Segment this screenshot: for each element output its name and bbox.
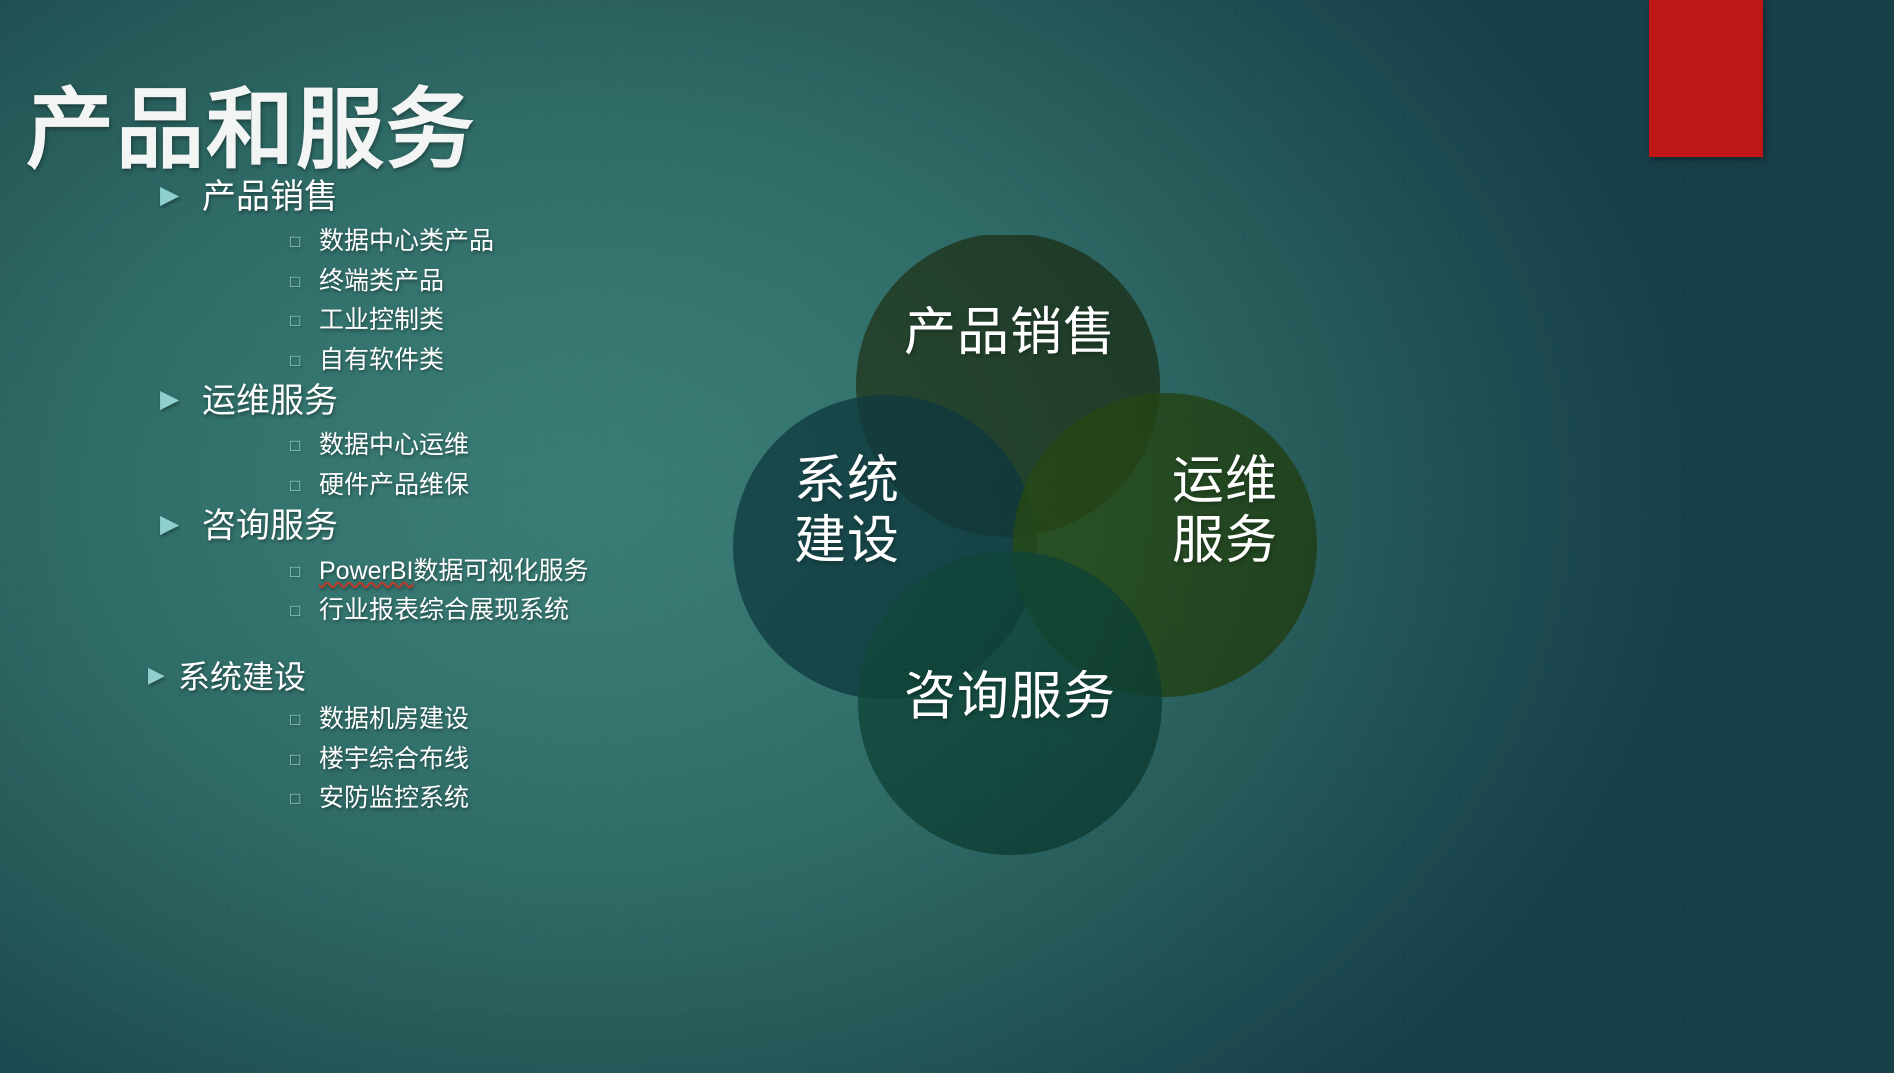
list-item-label: 数据机房建设 bbox=[319, 700, 469, 740]
list-item-label: 安防监控系统 bbox=[319, 779, 469, 819]
list-item-label: 工业控制类 bbox=[319, 301, 444, 341]
list-item-label: 楼宇综合布线 bbox=[319, 740, 469, 780]
triangle-bullet-icon: ▶ bbox=[160, 380, 202, 421]
list-item-label: 自有软件类 bbox=[319, 341, 444, 381]
square-bullet-icon: □ bbox=[290, 700, 319, 739]
bullet-label: 系统建设 bbox=[178, 657, 306, 699]
square-bullet-icon: □ bbox=[290, 222, 319, 261]
slide-canvas: 产品和服务 ▶ 产品销售 □ 数据中心类产品 □ 终端类产品 □ 工业控制类 □… bbox=[0, 0, 1894, 1073]
triangle-bullet-icon: ▶ bbox=[160, 505, 202, 546]
square-bullet-icon: □ bbox=[290, 341, 319, 380]
bullet-label: 产品销售 bbox=[202, 176, 338, 220]
page-title: 产品和服务 bbox=[26, 81, 476, 182]
list-item-label: PowerBI数据可视化服务 bbox=[319, 552, 589, 592]
list-item-label: 行业报表综合展现系统 bbox=[319, 591, 569, 631]
triangle-bullet-icon: ▶ bbox=[148, 657, 178, 693]
list-item-label: 终端类产品 bbox=[319, 262, 444, 302]
list-item-label-rest: 数据可视化服务 bbox=[413, 558, 588, 585]
square-bullet-icon: □ bbox=[290, 552, 319, 591]
square-bullet-icon: □ bbox=[290, 426, 319, 465]
list-item-label: 数据中心运维 bbox=[319, 426, 469, 466]
bullet-label: 咨询服务 bbox=[202, 505, 338, 549]
corner-accent-bar bbox=[1649, 0, 1763, 157]
square-bullet-icon: □ bbox=[290, 301, 319, 340]
bullet-group-product-sales[interactable]: ▶ 产品销售 bbox=[160, 176, 860, 220]
venn-circle-consulting-service[interactable] bbox=[858, 551, 1162, 855]
square-bullet-icon: □ bbox=[290, 466, 319, 505]
bullet-label: 运维服务 bbox=[202, 380, 338, 424]
list-item-label: 数据中心类产品 bbox=[319, 222, 494, 262]
triangle-bullet-icon: ▶ bbox=[160, 176, 202, 217]
misspelled-word: PowerBI bbox=[319, 557, 413, 585]
list-item-label: 硬件产品维保 bbox=[319, 466, 469, 506]
square-bullet-icon: □ bbox=[290, 591, 319, 630]
square-bullet-icon: □ bbox=[290, 740, 319, 779]
square-bullet-icon: □ bbox=[290, 262, 319, 301]
venn-svg bbox=[700, 235, 1340, 855]
venn-diagram: 产品销售 系统 建设 运维 服务 咨询服务 bbox=[700, 235, 1340, 855]
square-bullet-icon: □ bbox=[290, 779, 319, 818]
